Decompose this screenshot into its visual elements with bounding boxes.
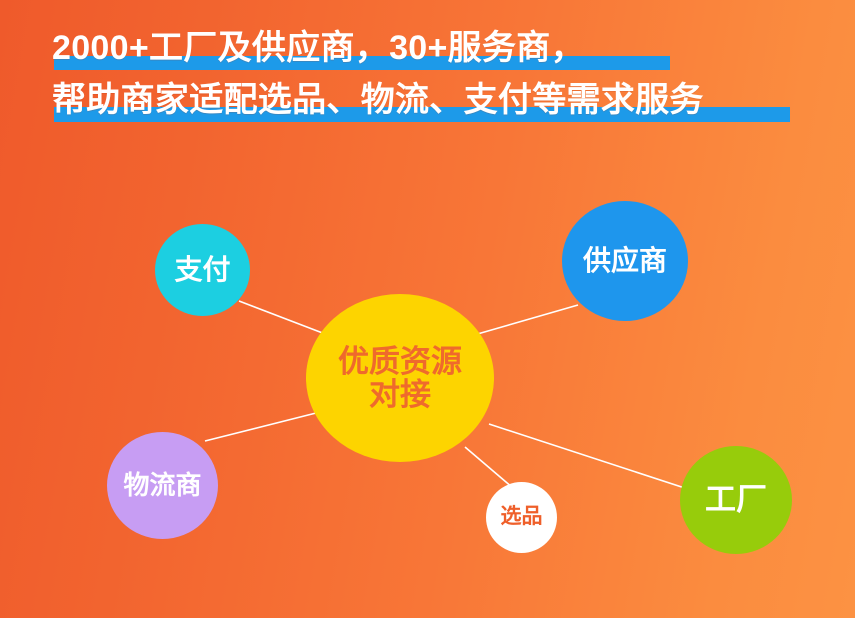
- node-center-hub[interactable]: 优质资源 对接: [306, 294, 494, 462]
- connector-center-to-pay: [239, 301, 333, 337]
- node-pay-label: 支付: [174, 255, 230, 285]
- node-logistics-label: 物流商: [123, 471, 201, 499]
- headline-line-2-text: 帮助商家适配选品、物流、支付等需求服务: [52, 81, 704, 119]
- node-center-label-line-2: 对接: [338, 378, 462, 411]
- headline-line-1-text: 2000+工厂及供应商，30+服务商，: [52, 29, 585, 67]
- connector-center-to-supplier: [474, 305, 578, 335]
- node-center-label-line-1: 优质资源: [338, 345, 462, 378]
- connector-center-to-logistics: [205, 412, 320, 441]
- node-factory[interactable]: 工厂: [680, 446, 792, 554]
- node-factory-label: 工厂: [705, 483, 767, 516]
- node-logistics[interactable]: 物流商: [107, 432, 218, 539]
- node-selection-label: 选品: [501, 506, 543, 529]
- slide-canvas: 2000+工厂及供应商，30+服务商， 帮助商家适配选品、物流、支付等需求服务 …: [0, 0, 855, 618]
- node-supplier-label: 供应商: [583, 246, 667, 276]
- connector-center-to-selection: [465, 447, 513, 488]
- node-center-labels: 优质资源 对接: [338, 345, 462, 412]
- node-pay[interactable]: 支付: [155, 224, 250, 316]
- node-selection[interactable]: 选品: [486, 482, 557, 553]
- node-supplier[interactable]: 供应商: [562, 201, 688, 321]
